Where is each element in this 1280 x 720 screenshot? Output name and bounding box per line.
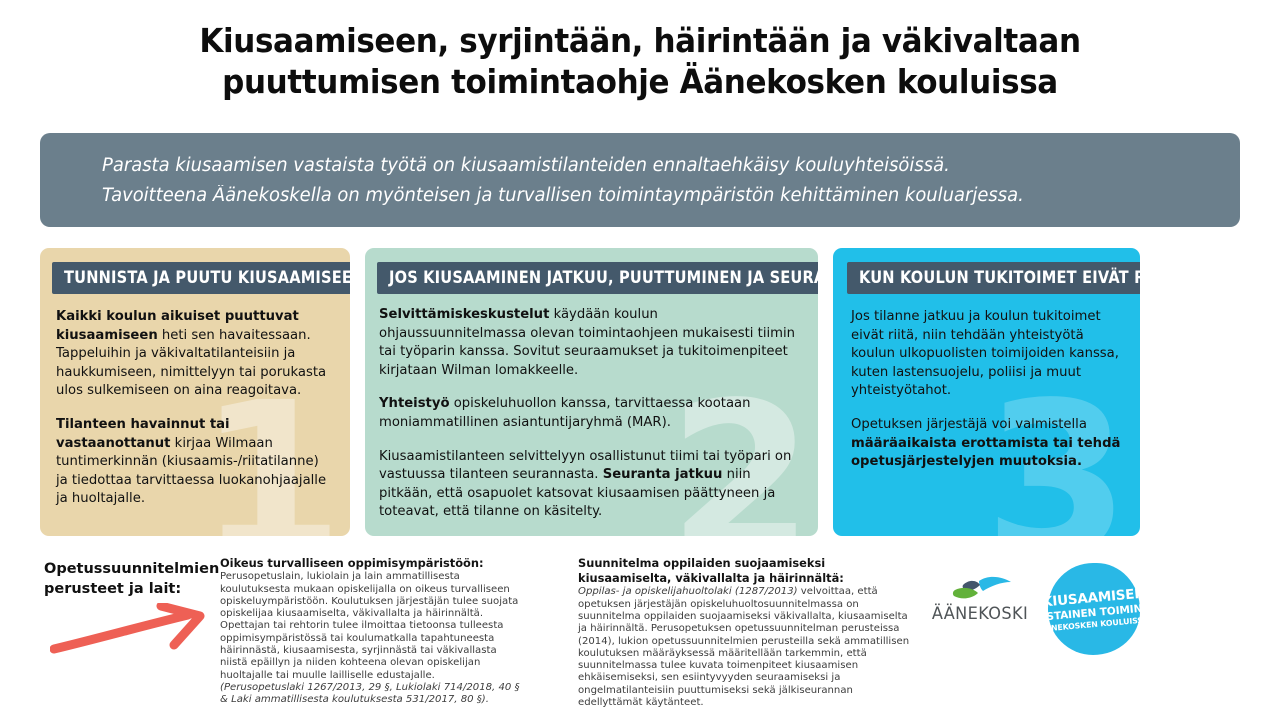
paragraph: Tilanteen havainnut tai vastaanottanut k… — [56, 416, 334, 509]
emphasis-text: Selvittämiskeskustelut — [379, 307, 549, 322]
page-title: Kiusaamiseen, syrjintään, häirintään ja … — [0, 0, 1280, 102]
step-card-3-body: Jos tilanne jatkuu ja koulun tukitoimet … — [833, 294, 1140, 472]
footer-column-2-title-line-2: kiusaamiselta, väkivallalta ja häirinnäl… — [578, 571, 918, 585]
step-card-1-header-text: TUNNISTA JA PUUTU KIUSAAMISEEN — [64, 268, 350, 288]
footer-label-line-2: perusteet ja lait: — [44, 579, 219, 599]
aanekoski-logo: ÄÄNEKOSKI — [928, 576, 1032, 624]
step-card-3-header: KUN KOULUN TUKITOIMET EIVÄT RIITÄ — [847, 262, 1140, 294]
step-card-2-body: Selvittämiskeskustelut käydään koulun oh… — [365, 294, 818, 536]
footer-column-2-citation: Oppilas- ja opiskelijahuoltolaki (1287/2… — [578, 586, 798, 597]
page-title-line-2: puuttumisen toimintaohje Äänekosken koul… — [38, 61, 1241, 102]
footer-column-1-title: Oikeus turvalliseen oppimisympäristöön: — [220, 556, 520, 570]
page-title-line-1: Kiusaamiseen, syrjintään, häirintään ja … — [38, 20, 1241, 61]
quote-banner: Parasta kiusaamisen vastaista työtä on k… — [40, 133, 1240, 227]
footer-column-rights: Oikeus turvalliseen oppimisympäristöön: … — [220, 556, 520, 706]
step-card-2: 2 JOS KIUSAAMINEN JATKUU, PUUTTUMINEN JA… — [365, 248, 818, 536]
step-card-3-header-text: KUN KOULUN TUKITOIMET EIVÄT RIITÄ — [859, 268, 1140, 288]
aanekoski-wordmark: ÄÄNEKOSKI — [931, 604, 1030, 624]
footer-label: Opetussuunnitelmien perusteet ja lait: — [44, 559, 219, 599]
paragraph: Selvittämiskeskustelut käydään koulun oh… — [379, 306, 802, 380]
paragraph: Jos tilanne jatkuu ja koulun tukitoimet … — [851, 308, 1124, 401]
aanekoski-logo-mark-icon — [928, 576, 1032, 604]
paragraph: Opetuksen järjestäjä voi valmistella mää… — [851, 416, 1124, 472]
body-text: Opetuksen järjestäjä voi valmistella — [851, 417, 1087, 432]
emphasis-text: määräaikaista erottamista tai tehdä opet… — [851, 436, 1120, 470]
quote-line-1: Parasta kiusaamisen vastaista työtä on k… — [102, 151, 1167, 181]
emphasis-text: Yhteistyö — [379, 396, 450, 411]
step-card-3: 3 KUN KOULUN TUKITOIMET EIVÄT RIITÄ Jos … — [833, 248, 1140, 536]
quote-line-2: Tavoitteena Äänekoskella on myönteisen j… — [102, 181, 1167, 211]
footer-label-line-1: Opetussuunnitelmien — [44, 559, 219, 579]
step-card-1: 1 TUNNISTA JA PUUTU KIUSAAMISEEN Kaikki … — [40, 248, 350, 536]
body-text: Jos tilanne jatkuu ja koulun tukitoimet … — [851, 309, 1119, 398]
curved-arrow-icon — [50, 603, 220, 660]
step-card-1-body: Kaikki koulun aikuiset puuttuvat kiusaam… — [40, 294, 350, 509]
step-card-2-header: JOS KIUSAAMINEN JATKUU, PUUTTUMINEN JA S… — [377, 262, 818, 294]
footer-column-2-body: Oppilas- ja opiskelijahuoltolaki (1287/2… — [578, 586, 918, 709]
step-card-1-header: TUNNISTA JA PUUTU KIUSAAMISEEN — [52, 262, 350, 294]
paragraph: Yhteistyö opiskeluhuollon kanssa, tarvit… — [379, 395, 802, 432]
footer-column-1-citation: (Perusopetuslaki 1267/2013, 29 §, Lukiol… — [220, 682, 520, 705]
paragraph: Kiusaamistilanteen selvittelyyn osallist… — [379, 448, 802, 522]
footer-column-2-title-line-1: Suunnitelma oppilaiden suojaamiseksi — [578, 556, 918, 570]
footer-column-1-body: Perusopetuslain, lukiolain ja lain ammat… — [220, 571, 520, 706]
footer-column-1-text: Perusopetuslain, lukiolain ja lain ammat… — [220, 571, 518, 680]
anti-bullying-badge: KIUSAAMISEN VASTAINEN TOIMINTA ÄÄNEKOSKE… — [1048, 563, 1140, 655]
paragraph: Kaikki koulun aikuiset puuttuvat kiusaam… — [56, 308, 334, 401]
steps-card-row: 1 TUNNISTA JA PUUTU KIUSAAMISEEN Kaikki … — [0, 248, 1280, 536]
step-card-2-header-text: JOS KIUSAAMINEN JATKUU, PUUTTUMINEN JA S… — [389, 268, 818, 288]
footer-column-plan: Suunnitelma oppilaiden suojaamiseksi kiu… — [578, 556, 918, 709]
emphasis-text: Seuranta jatkuu — [603, 467, 723, 482]
footer-column-2-text: velvoittaa, että opetuksen järjestäjän o… — [578, 586, 909, 708]
